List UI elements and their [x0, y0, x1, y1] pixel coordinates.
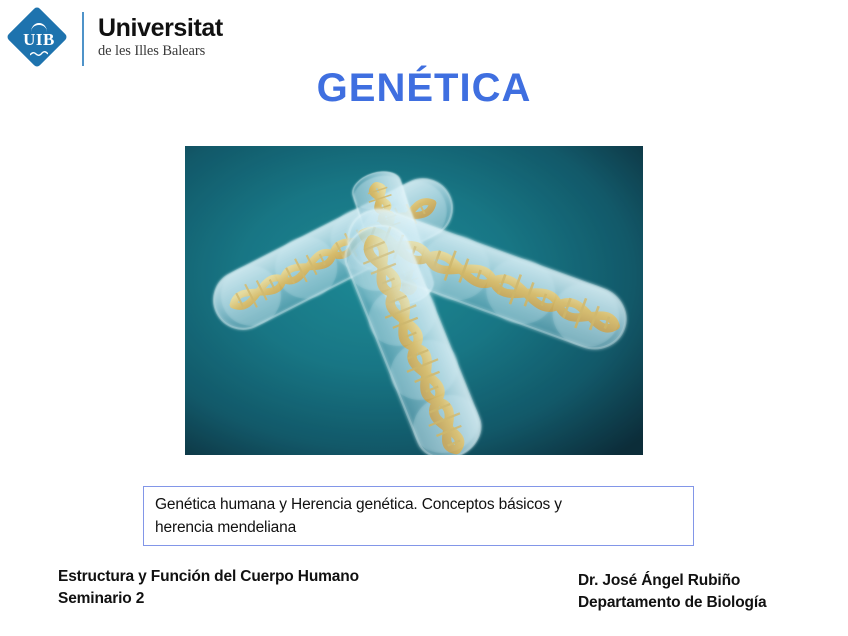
uib-logo-block: UIB Universitat de les Illes Balears [8, 8, 223, 70]
author-name: Dr. José Ángel Rubiño [578, 570, 766, 592]
author-info: Dr. José Ángel Rubiño Departamento de Bi… [578, 570, 766, 615]
caption-line-2: herencia mendeliana [155, 517, 683, 540]
logo-wave-icon [30, 51, 48, 57]
course-info: Estructura y Función del Cuerpo Humano S… [58, 566, 359, 611]
page-title: GENÉTICA [0, 66, 848, 111]
author-department: Departamento de Biología [578, 592, 766, 614]
seminar-number: Seminario 2 [58, 588, 359, 610]
logo-divider [82, 12, 84, 66]
x-chromosome-dna-illustration [185, 146, 643, 455]
university-name-block: Universitat de les Illes Balears [98, 16, 223, 61]
chromosome-graphic [185, 146, 643, 455]
subtitle-caption-box: Genética humana y Herencia genética. Con… [143, 486, 694, 546]
course-name: Estructura y Función del Cuerpo Humano [58, 566, 359, 588]
caption-line-1: Genética humana y Herencia genética. Con… [155, 494, 683, 517]
uib-diamond-logo-icon: UIB [8, 8, 70, 70]
university-name: Universitat [98, 16, 223, 42]
logo-letters: UIB [8, 8, 70, 70]
university-subtitle: de les Illes Balears [98, 44, 223, 60]
